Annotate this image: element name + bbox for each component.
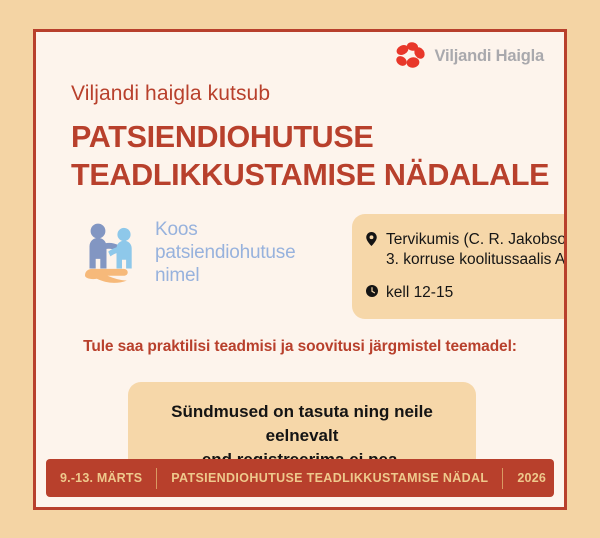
campaign-logo-line-1: Koos bbox=[155, 218, 295, 241]
hospital-brand-name: Viljandi Haigla bbox=[435, 47, 544, 66]
footer-divider-left bbox=[156, 468, 157, 489]
poster: Viljandi Haigla Viljandi haigla kutsub P… bbox=[0, 0, 600, 538]
campaign-logo-line-2: patsiendiohutuse bbox=[155, 241, 295, 264]
prompt-text: Tule saa praktilisi teadmisi ja soovitus… bbox=[36, 338, 564, 356]
kicker-text: Viljandi haigla kutsub bbox=[71, 82, 270, 106]
info-time-text: kell 12-15 bbox=[386, 283, 453, 303]
info-location-line-2: 3. korruse koolitussaalis Aed bbox=[386, 251, 567, 268]
flower-petals-icon bbox=[394, 41, 428, 71]
page-title: PATSIENDIOHUTUSE TEADLIKKUSTAMISE NÄDALA… bbox=[71, 118, 567, 194]
poster-frame: Viljandi Haigla Viljandi haigla kutsub P… bbox=[33, 29, 567, 510]
note-line-1: Sündmused on tasuta ning neile eelnevalt bbox=[148, 400, 456, 448]
footer-bar: 9.-13. MÄRTS PATSIENDIOHUTUSE TEADLIKKUS… bbox=[46, 459, 554, 497]
location-pin-icon bbox=[366, 230, 379, 250]
info-location-line-1: Tervikumis (C. R. Jakobsoni 2a) bbox=[386, 231, 567, 248]
headline-line-1: PATSIENDIOHUTUSE bbox=[71, 118, 567, 156]
footer-dates: 9.-13. MÄRTS bbox=[60, 471, 142, 485]
footer-year: 2026 bbox=[517, 471, 546, 485]
info-row-time: kell 12-15 bbox=[366, 283, 567, 303]
footer-title: PATSIENDIOHUTUSE TEADLIKKUSTAMISE NÄDAL bbox=[171, 471, 488, 485]
campaign-logo: Koos patsiendiohutuse nimel bbox=[83, 218, 295, 288]
info-row-location: Tervikumis (C. R. Jakobsoni 2a) 3. korru… bbox=[366, 230, 567, 271]
clock-icon bbox=[366, 283, 379, 301]
two-figures-on-hand-icon bbox=[83, 220, 146, 286]
headline-line-2: TEADLIKKUSTAMISE NÄDALALE bbox=[71, 156, 567, 194]
campaign-logo-line-3: nimel bbox=[155, 264, 295, 287]
hospital-brand-logo: Viljandi Haigla bbox=[394, 41, 544, 71]
info-location-text: Tervikumis (C. R. Jakobsoni 2a) 3. korru… bbox=[386, 230, 567, 271]
campaign-logo-text: Koos patsiendiohutuse nimel bbox=[155, 218, 295, 288]
event-info-card: Tervikumis (C. R. Jakobsoni 2a) 3. korru… bbox=[352, 214, 567, 319]
footer-divider-right bbox=[502, 468, 503, 489]
